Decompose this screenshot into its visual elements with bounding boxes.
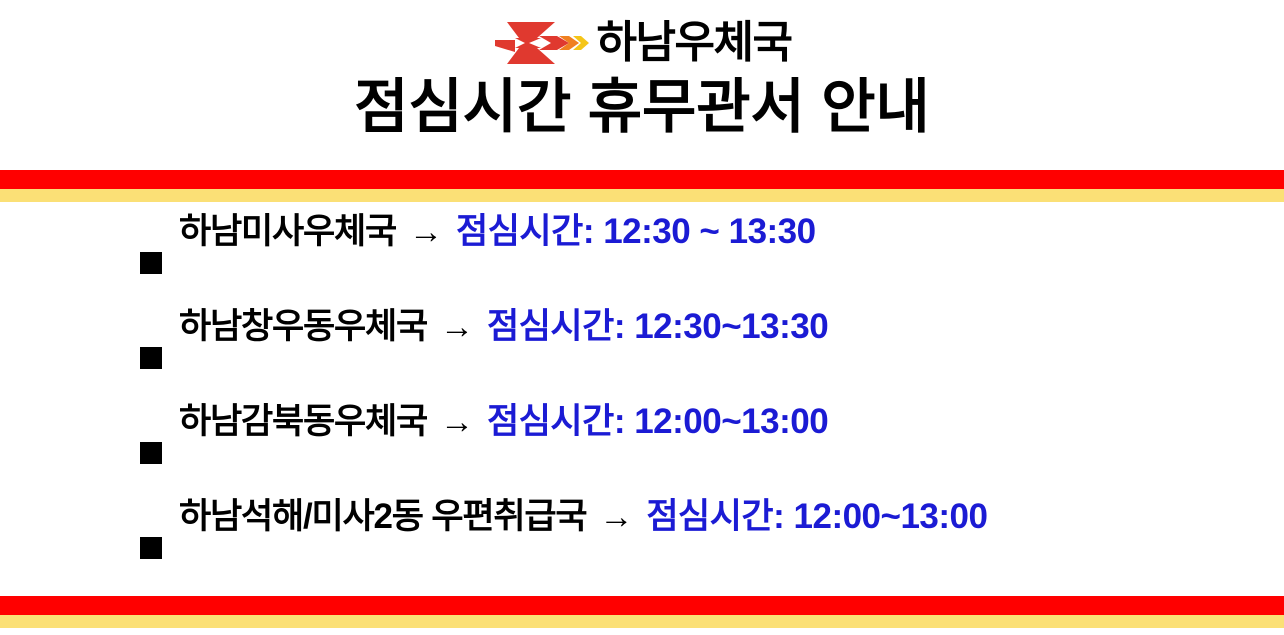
list-item: 하남석해/미사2동 우편취급국 → 점심시간: 12:00~13:00 [140, 499, 1250, 594]
lunch-time: 점심시간: 12:30 ~ 13:30 [456, 214, 816, 249]
office-name: 하남감북동우체국 [179, 404, 427, 439]
bullet-square-icon [140, 347, 162, 369]
office-name: 하남미사우체국 [179, 214, 396, 249]
lunch-time: 점심시간: 12:00~13:00 [487, 404, 828, 439]
lunch-time: 점심시간: 12:00~13:00 [646, 499, 987, 534]
divider-bar-top [0, 170, 1284, 202]
list-item: 하남미사우체국 → 점심시간: 12:30 ~ 13:30 [140, 214, 1250, 309]
brand-name: 하남우체국 [597, 21, 792, 65]
list-item: 하남창우동우체국 → 점심시간: 12:30~13:30 [140, 309, 1250, 404]
bullet-square-icon [140, 252, 162, 274]
divider-yellow-band [0, 189, 1284, 202]
bullet-square-icon [140, 537, 162, 559]
arrow-right-icon: → [409, 215, 443, 249]
arrow-right-icon: → [440, 405, 474, 439]
divider-yellow-band [0, 615, 1284, 628]
page-title: 점심시간 휴무관서 안내 [354, 74, 930, 140]
arrow-right-icon: → [440, 310, 474, 344]
divider-red-band [0, 596, 1284, 615]
lunch-break-notice-poster: 하남우체국 점심시간 휴무관서 안내 하남미사우체국 → 점심시간: 12:30… [0, 0, 1284, 635]
divider-red-band [0, 170, 1284, 189]
brand-row: 하남우체국 [493, 14, 792, 72]
divider-bar-bottom [0, 596, 1284, 628]
office-name: 하남창우동우체국 [179, 309, 427, 344]
bullet-square-icon [140, 442, 162, 464]
lunch-time: 점심시간: 12:30~13:30 [487, 309, 828, 344]
list-item: 하남감북동우체국 → 점심시간: 12:00~13:00 [140, 404, 1250, 499]
arrow-right-icon: → [599, 500, 633, 534]
notice-list: 하남미사우체국 → 점심시간: 12:30 ~ 13:30 하남창우동우체국 →… [140, 214, 1250, 594]
poster-header: 하남우체국 점심시간 휴무관서 안내 [0, 0, 1284, 168]
office-name: 하남석해/미사2동 우편취급국 [179, 499, 586, 534]
korea-post-swallow-logo-icon [493, 20, 589, 66]
